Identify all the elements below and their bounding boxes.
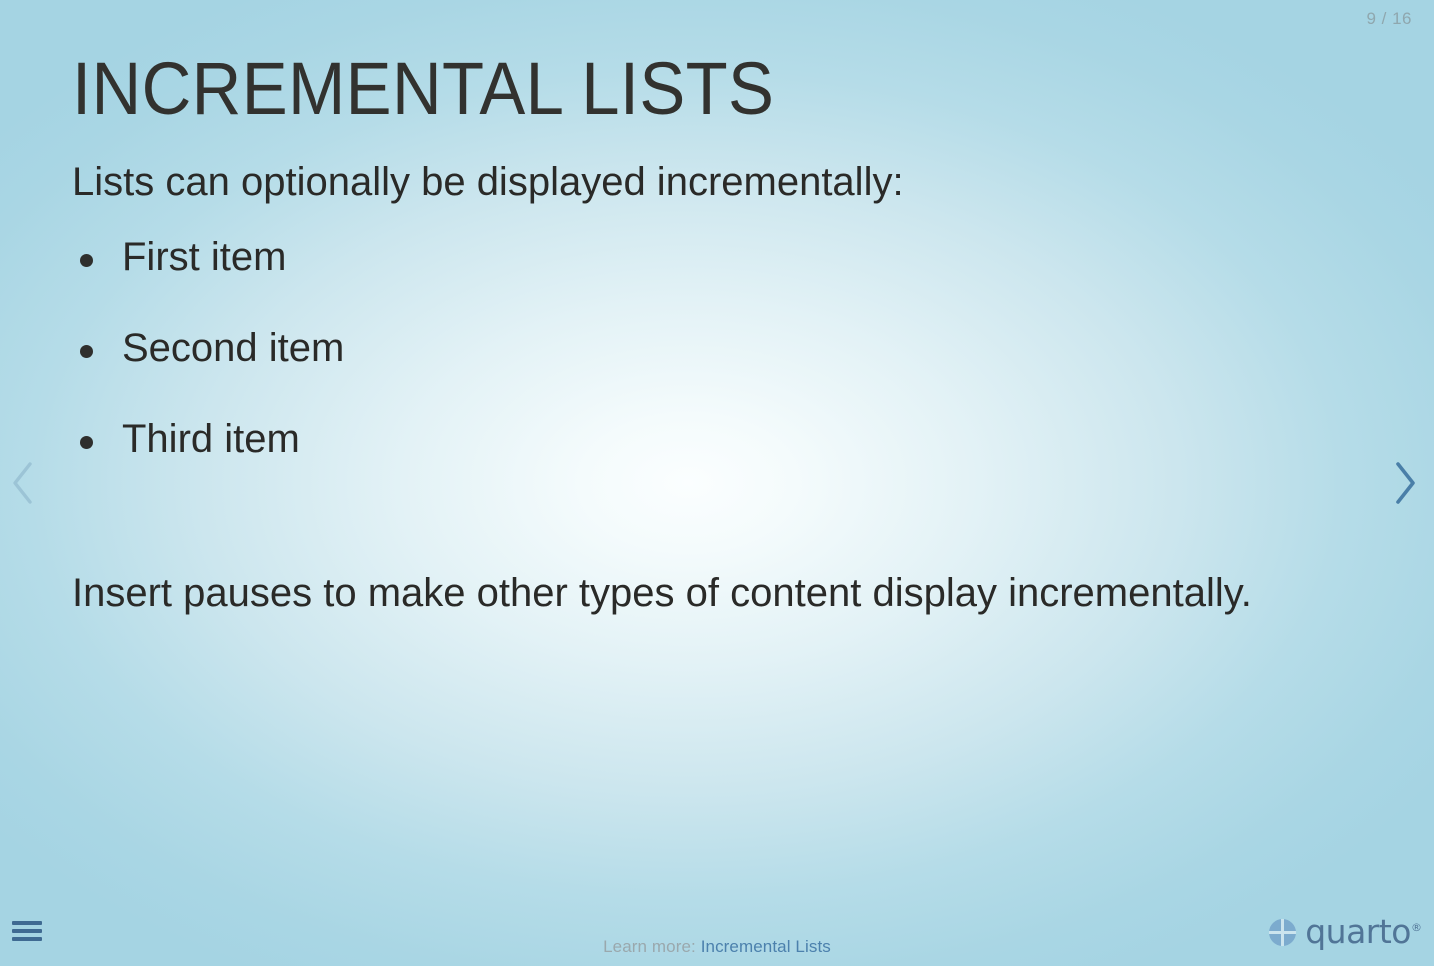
quarto-logo[interactable]: quarto® [1269, 916, 1422, 949]
list-item-label: Second item [122, 326, 344, 370]
registered-trademark-icon: ® [1411, 921, 1422, 934]
quarto-wordmark-text: quarto [1305, 912, 1411, 951]
list-item: Third item [72, 415, 1362, 463]
previous-slide-button[interactable] [2, 455, 44, 511]
learn-more-link[interactable]: Incremental Lists [701, 937, 831, 956]
footer-note: Learn more: Incremental Lists [0, 937, 1434, 957]
bullet-dot-icon [80, 254, 93, 267]
list-item: Second item [72, 324, 1362, 372]
chevron-left-icon [10, 460, 36, 506]
list-item-label: First item [122, 235, 286, 279]
next-slide-button[interactable] [1384, 455, 1426, 511]
incremental-bullet-list: First item Second item Third item [72, 207, 1362, 463]
lead-paragraph: Lists can optionally be displayed increm… [72, 126, 1362, 207]
list-item-label: Third item [122, 417, 300, 461]
menu-bar [12, 929, 42, 933]
page-title: Incremental Lists [72, 52, 1272, 126]
quarto-wordmark: quarto® [1305, 915, 1422, 948]
bullet-dot-icon [80, 436, 93, 449]
slide-content: Incremental Lists Lists can optionally b… [72, 52, 1362, 626]
bullet-dot-icon [80, 345, 93, 358]
quarto-circle-quadrant-icon [1269, 919, 1296, 946]
chevron-right-icon [1392, 460, 1418, 506]
learn-more-label: Learn more: [603, 937, 696, 956]
menu-bar [12, 921, 42, 925]
list-item: First item [72, 233, 1362, 281]
presentation-slide: 9 / 16 Incremental Lists Lists can optio… [0, 0, 1434, 966]
body-paragraph: Insert pauses to make other types of con… [72, 506, 1287, 627]
page-counter: 9 / 16 [1366, 9, 1412, 29]
